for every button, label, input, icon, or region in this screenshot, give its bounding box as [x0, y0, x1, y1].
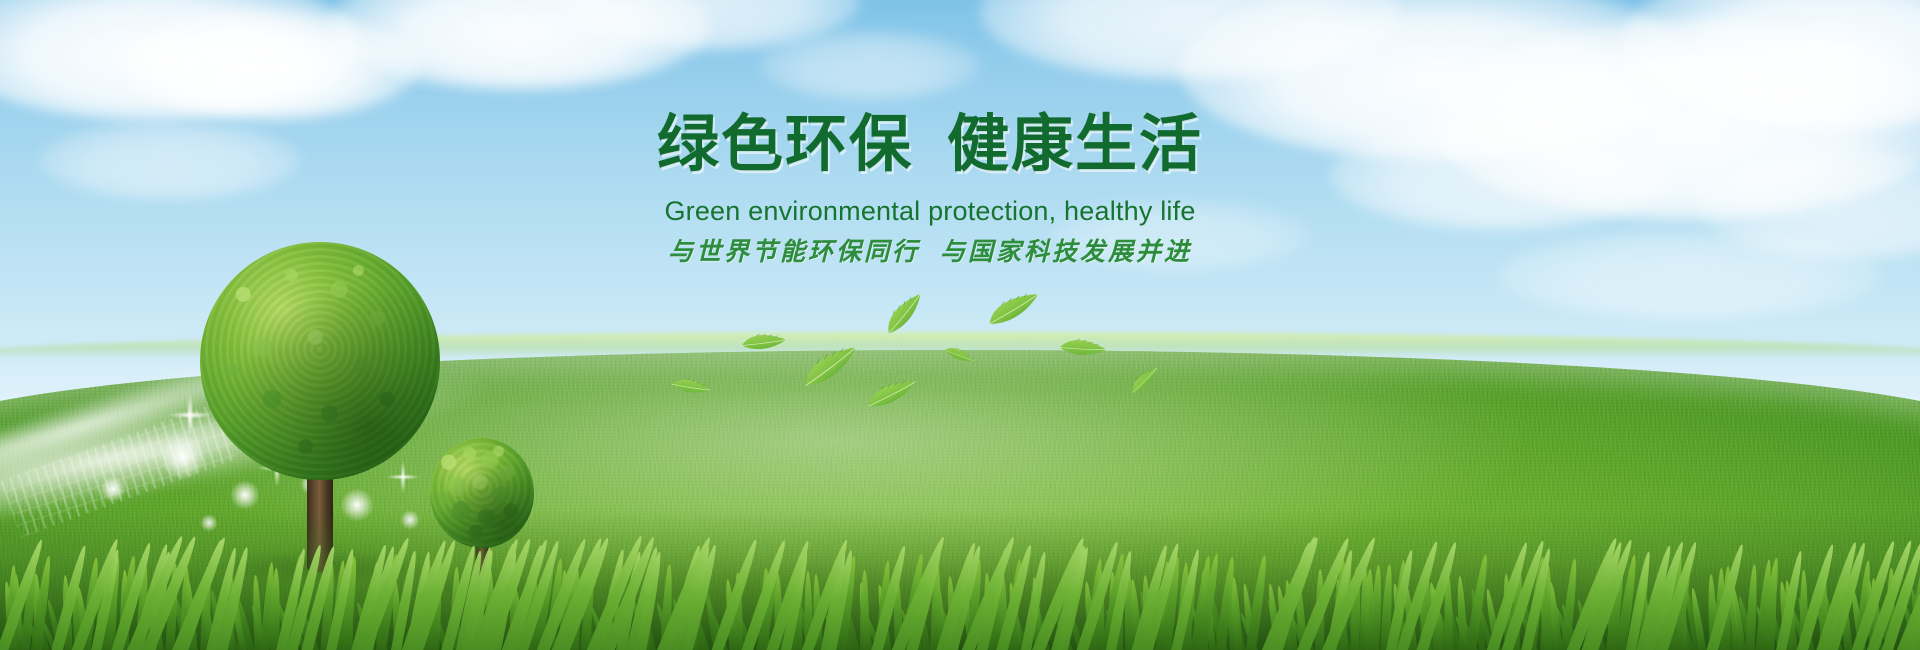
eco-banner: 绿色环保健康生活 Green environmental protection,… [0, 0, 1920, 650]
subtitle-chinese: 与世界节能环保同行与国家科技发展并进 [620, 237, 1240, 268]
page-title: 绿色环保健康生活 [620, 112, 1240, 179]
subtitle-cn-part-2: 与国家科技发展并进 [940, 238, 1192, 266]
subtitle-cn-part-1: 与世界节能环保同行 [668, 238, 920, 266]
headline-part-2: 健康生活 [947, 110, 1203, 179]
subtitle-english: Green environmental protection, healthy … [620, 195, 1240, 227]
banner-copy: 绿色环保健康生活 Green environmental protection,… [620, 112, 1240, 269]
grass-blades [0, 510, 1920, 650]
foreground-grass [0, 510, 1920, 650]
headline-part-1: 绿色环保 [657, 110, 913, 179]
grass-blade [860, 570, 869, 650]
